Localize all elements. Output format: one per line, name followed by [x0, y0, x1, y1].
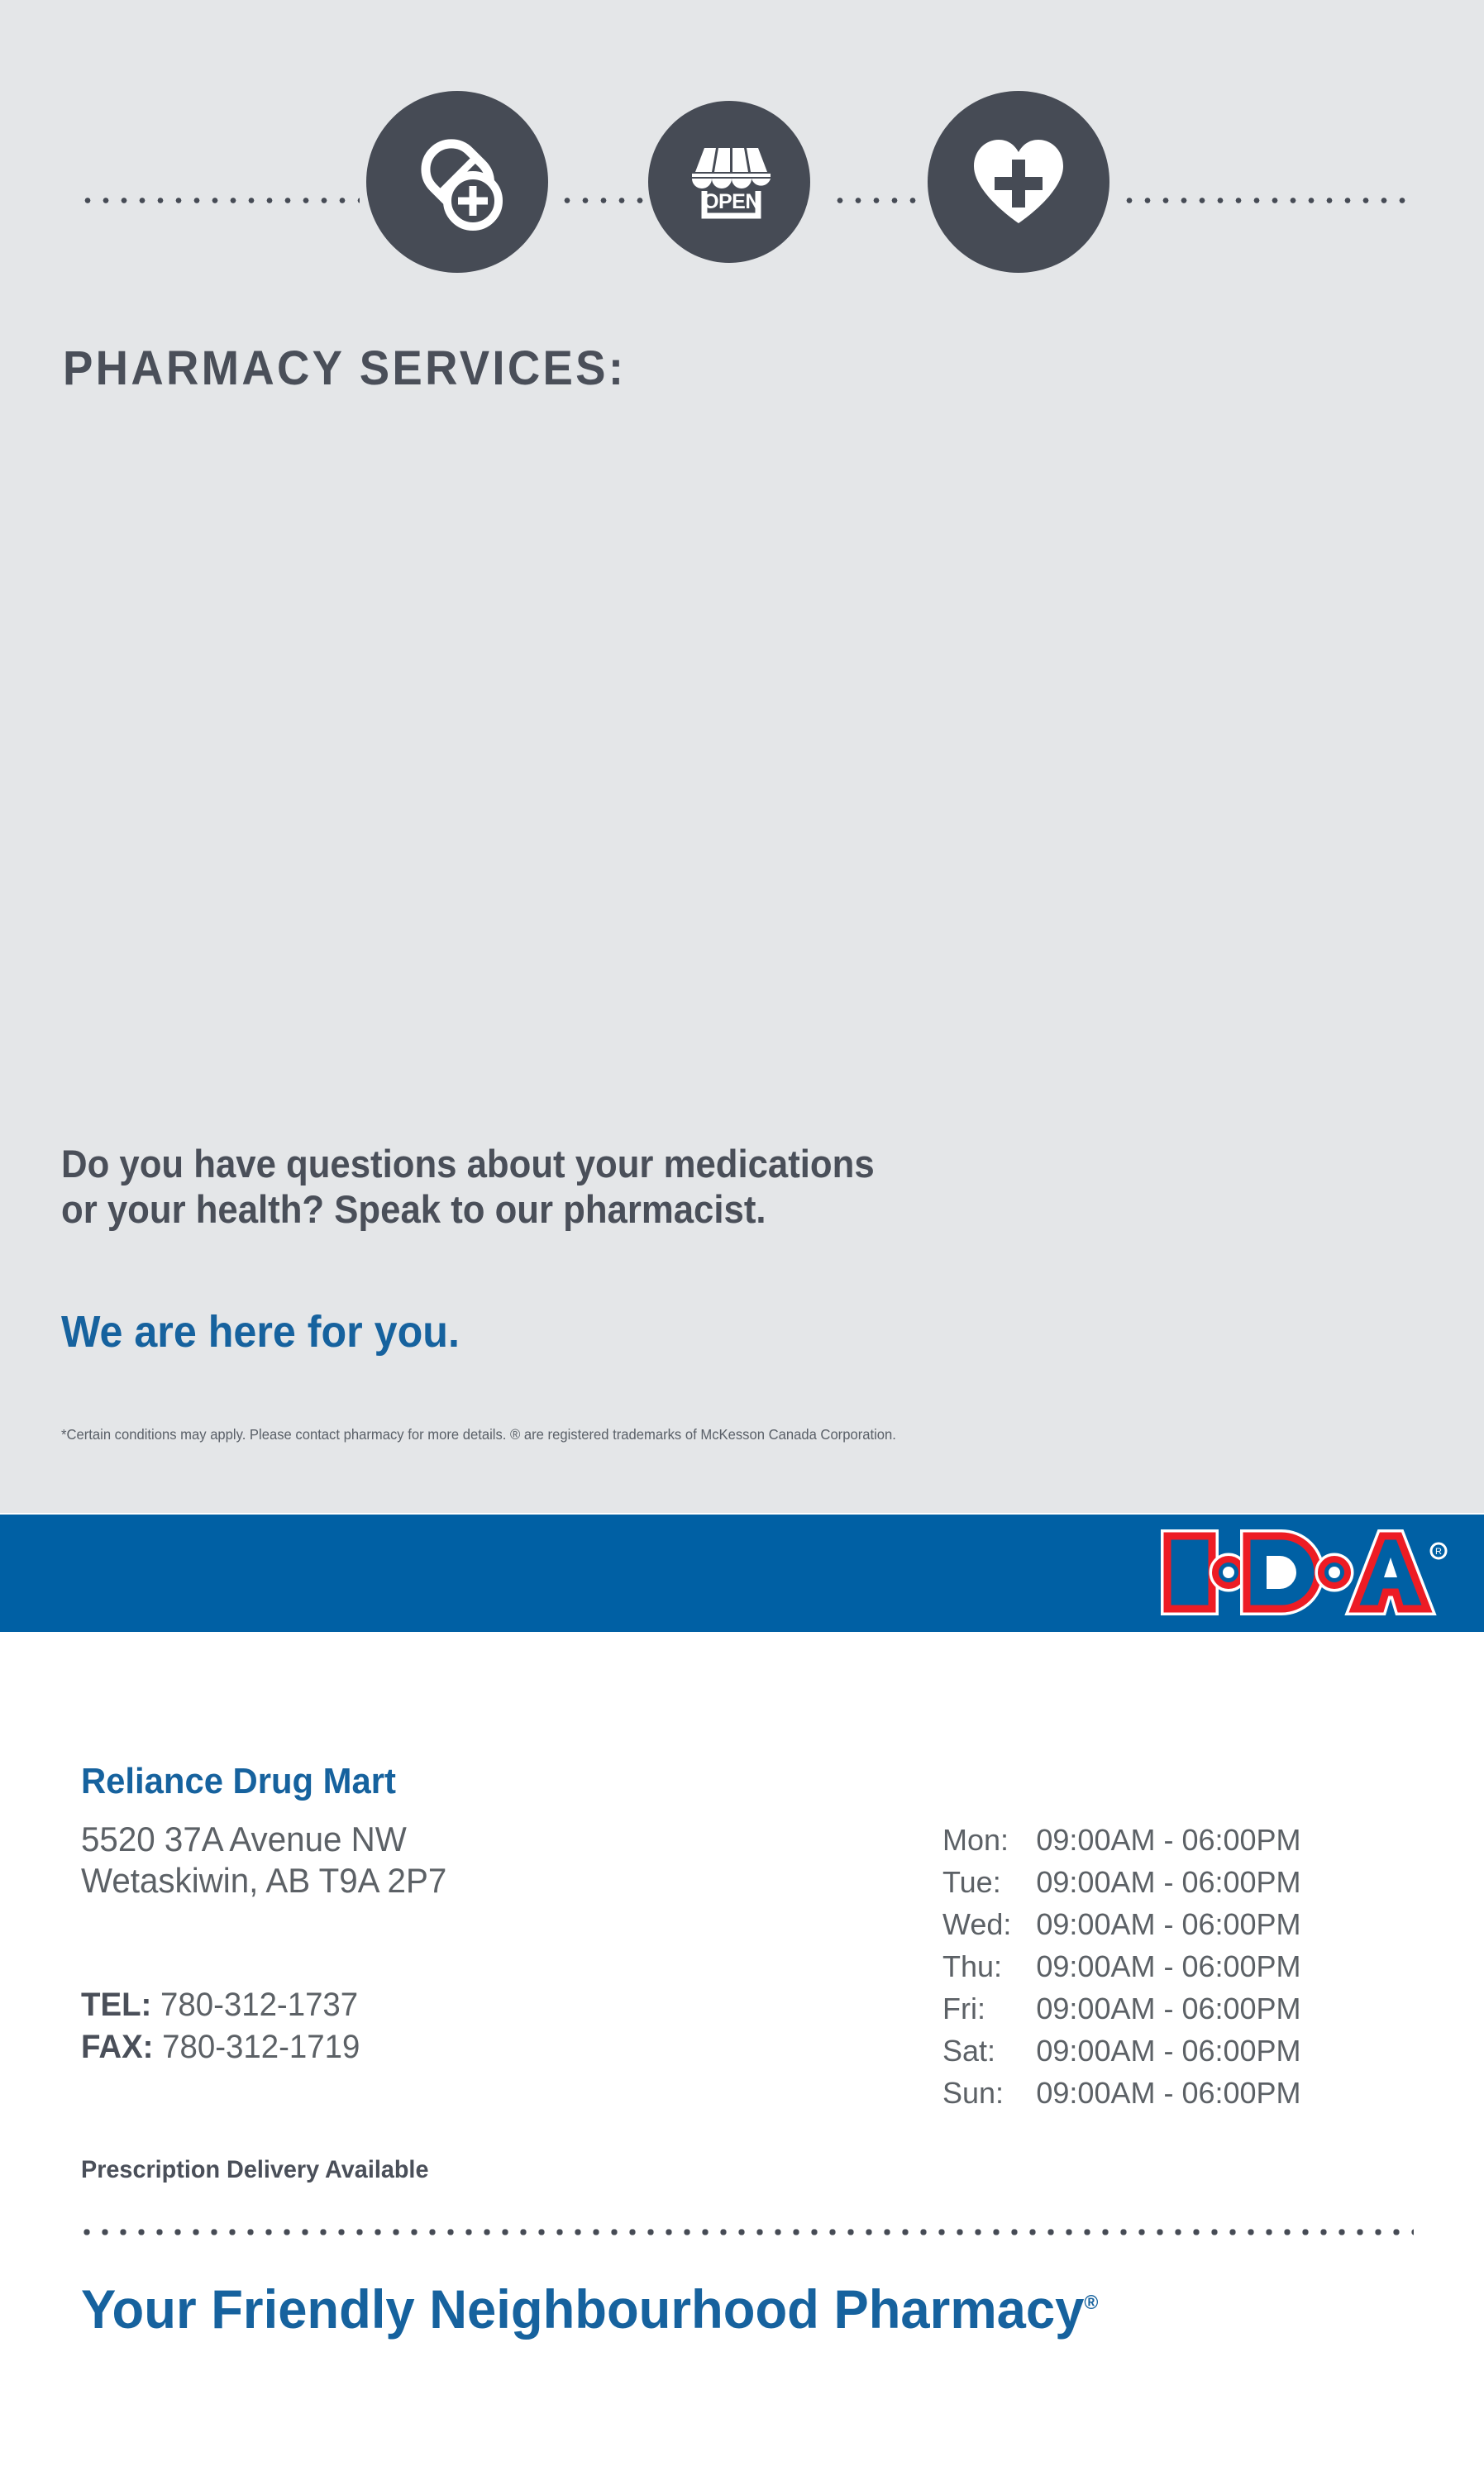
fax-value: 780-312-1719 [162, 2029, 360, 2065]
store-address: 5520 37A Avenue NW Wetaskiwin, AB T9A 2P… [81, 1819, 446, 1902]
brand-band: R [0, 1515, 1484, 1632]
footer-tagline-text: Your Friendly Neighbourhood Pharmacy [81, 2278, 1084, 2340]
question-text: Do you have questions about your medicat… [61, 1141, 1214, 1233]
hours-time: 09:00AM - 06:00PM [1036, 1823, 1300, 1865]
telephone-row: TEL: 780-312-1737 [81, 1984, 360, 2026]
footer-tagline: Your Friendly Neighbourhood Pharmacy® [81, 2278, 1098, 2340]
dotted-rule-segment-mid-left [558, 197, 649, 204]
store-hours-body: Mon: 09:00AM - 06:00PM Tue: 09:00AM - 06… [942, 1823, 1301, 2118]
hours-day: Sat: [942, 2034, 1036, 2076]
hours-day: Fri: [942, 1992, 1036, 2034]
table-row: Fri: 09:00AM - 06:00PM [942, 1992, 1301, 2034]
pills-plus-icon [366, 91, 548, 273]
address-line-2: Wetaskiwin, AB T9A 2P7 [81, 1860, 446, 1901]
hours-time: 09:00AM - 06:00PM [1036, 1907, 1300, 1949]
hours-time: 09:00AM - 06:00PM [1036, 1992, 1300, 2034]
table-row: Sat: 09:00AM - 06:00PM [942, 2034, 1301, 2076]
telephone-label: TEL: [81, 1987, 151, 2023]
hours-time: 09:00AM - 06:00PM [1036, 2076, 1300, 2118]
table-row: Thu: 09:00AM - 06:00PM [942, 1949, 1301, 1992]
hours-day: Sun: [942, 2076, 1036, 2118]
call-to-action-text: We are here for you. [61, 1306, 460, 1357]
ida-logo: R [1157, 1526, 1455, 1619]
dotted-rule-segment-left [79, 197, 360, 204]
page-title: PHARMACY SERVICES: [63, 341, 626, 396]
svg-text:R: R [1435, 1547, 1442, 1557]
store-name: Reliance Drug Mart [81, 1761, 396, 1802]
hours-time: 09:00AM - 06:00PM [1036, 1949, 1300, 1992]
table-row: Mon: 09:00AM - 06:00PM [942, 1823, 1301, 1865]
hours-day: Mon: [942, 1823, 1036, 1865]
address-line-1: 5520 37A Avenue NW [81, 1819, 446, 1860]
services-list-area [63, 446, 1419, 1108]
hours-time: 09:00AM - 06:00PM [1036, 1865, 1300, 1907]
fax-label: FAX: [81, 2029, 153, 2065]
table-row: Sun: 09:00AM - 06:00PM [942, 2076, 1301, 2118]
footer-dotted-divider [78, 2228, 1414, 2236]
hours-day: Thu: [942, 1949, 1036, 1992]
store-contact: TEL: 780-312-1737 FAX: 780-312-1719 [81, 1984, 360, 2068]
table-row: Tue: 09:00AM - 06:00PM [942, 1865, 1301, 1907]
heart-cross-icon [928, 91, 1109, 273]
hours-time: 09:00AM - 06:00PM [1036, 2034, 1300, 2076]
question-line-2: or your health? Speak to our pharmacist. [61, 1186, 1214, 1232]
disclaimer-text: *Certain conditions may apply. Please co… [61, 1426, 1200, 1443]
dotted-rule-segment-right [1120, 197, 1410, 204]
question-line-1: Do you have questions about your medicat… [61, 1141, 1214, 1186]
delivery-note: Prescription Delivery Available [81, 2156, 428, 2184]
store-hours-table: Mon: 09:00AM - 06:00PM Tue: 09:00AM - 06… [942, 1823, 1301, 2118]
top-gray-panel: OPEN PHARMACY SERVICES: Do you have ques… [0, 0, 1484, 1513]
hours-day: Tue: [942, 1865, 1036, 1907]
storefront-open-icon: OPEN [648, 101, 810, 263]
dotted-rule-segment-mid-right [831, 197, 922, 204]
telephone-value[interactable]: 780-312-1737 [160, 1987, 358, 2023]
hours-day: Wed: [942, 1907, 1036, 1949]
table-row: Wed: 09:00AM - 06:00PM [942, 1907, 1301, 1949]
svg-text:OPEN: OPEN [703, 190, 760, 213]
icon-strip: OPEN [0, 91, 1484, 306]
fax-row: FAX: 780-312-1719 [81, 2026, 360, 2068]
registered-mark: ® [1084, 2292, 1098, 2314]
